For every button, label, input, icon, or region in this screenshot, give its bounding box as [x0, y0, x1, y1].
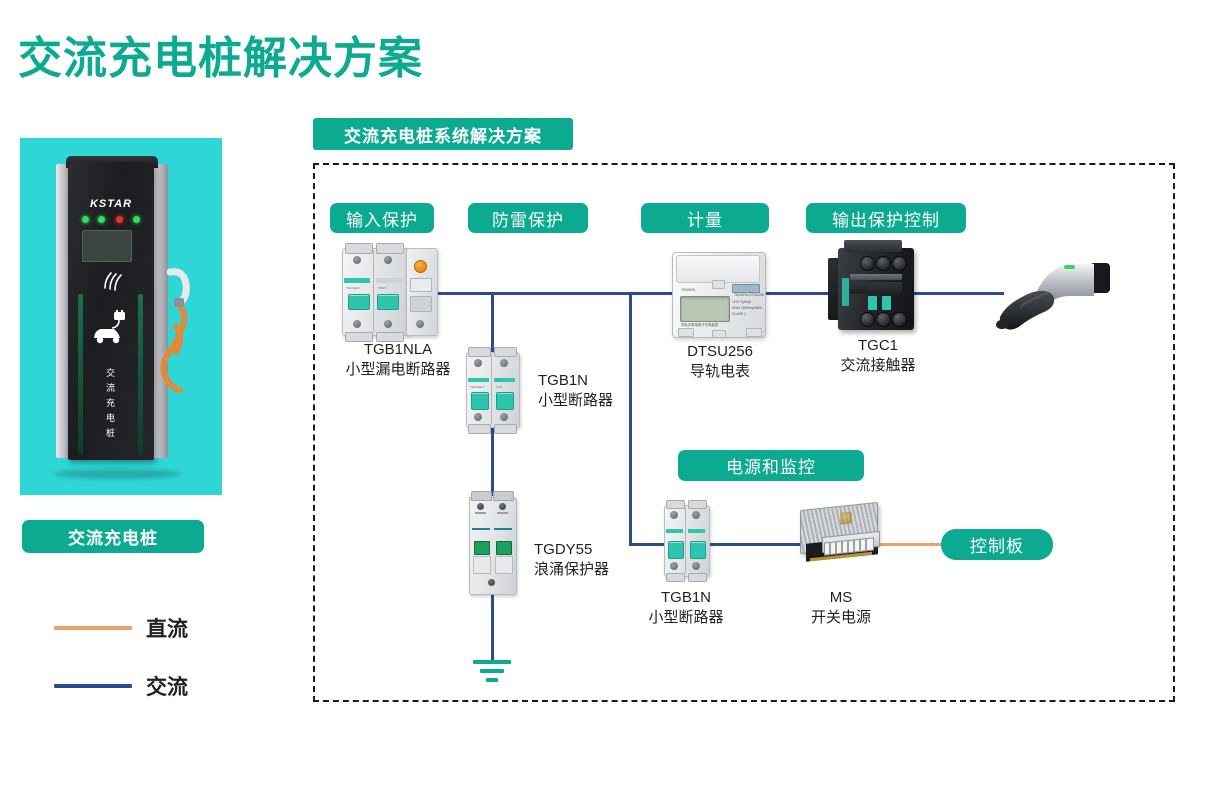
legend-swatch-dc [54, 626, 132, 630]
device-meter-name: 导轨电表 [650, 362, 790, 382]
device-mcb-main-image: TENGEN C16 [466, 352, 518, 426]
device-mcb-main-name: 小型断路器 [538, 391, 678, 411]
ac-mcb-to-psu [706, 543, 810, 546]
ac-mcb-to-spd [491, 424, 494, 496]
pile-led-4 [133, 216, 140, 223]
ac-drop-to-mcb [491, 292, 494, 354]
device-psu-caption: MS 开关电源 [786, 588, 896, 629]
section-label-input-protection: 输入保护 [330, 203, 434, 233]
pile-lcd-screen [82, 230, 132, 262]
device-rccb-caption: TGB1NLA 小型漏电断路器 [318, 340, 478, 381]
device-meter-caption: DTSU256 导轨电表 [650, 342, 790, 383]
device-mcb-aux-caption: TGB1N 小型断路器 [626, 588, 746, 629]
legend: 直流 交流 [18, 600, 258, 700]
legend-swatch-ac [54, 684, 132, 688]
legend-label-dc: 直流 [146, 613, 188, 643]
ground-bar-2 [480, 669, 504, 673]
ground-bar-1 [473, 660, 511, 664]
section-label-metering: 计量 [641, 203, 769, 233]
device-spd-image [469, 497, 515, 593]
pile-led-3 [116, 216, 123, 223]
device-mcb-aux-model: TGB1N [626, 588, 746, 608]
dc-psu-to-control-board [880, 543, 942, 546]
device-meter-model: DTSU256 [650, 342, 790, 362]
pile-brand-logo: KSTAR [68, 198, 154, 210]
device-contactor-image [838, 248, 914, 330]
device-mcb-aux-image [664, 505, 708, 575]
ground-bar-3 [486, 678, 498, 682]
pile-front-panel: KSTAR 交 [68, 162, 154, 460]
pile-cable-and-connector [152, 268, 198, 428]
pile-led-2 [98, 216, 105, 223]
pile-shadow [54, 469, 182, 479]
rfid-icon [96, 270, 126, 292]
device-contactor-model: TGC1 [818, 336, 938, 356]
device-rccb-name: 小型漏电断路器 [318, 360, 478, 380]
device-mcb-aux-name: 小型断路器 [626, 608, 746, 628]
device-contactor-name: 交流接触器 [818, 356, 938, 376]
legend-label-ac: 交流 [146, 671, 188, 701]
device-psu-image [800, 506, 884, 566]
system-banner: 交流充电桩系统解决方案 [313, 118, 573, 150]
device-spd-caption: TGDY55 浪涌保护器 [534, 540, 674, 581]
control-board-pill: 控制板 [941, 529, 1053, 560]
device-spd-model: TGDY55 [534, 540, 674, 560]
pile-led-1 [82, 216, 89, 223]
device-rccb-image: TENGEN TEST [342, 248, 408, 334]
ac-drop-to-aux [629, 292, 632, 545]
device-meter-image: TENGEN DTSU256 TENGEN 220V 5(60)A 50Hz 1… [672, 252, 764, 336]
device-rccb-model: TGB1NLA [318, 340, 478, 360]
ev-charging-icon [88, 310, 134, 344]
charging-pile-caption: 交流充电桩 [22, 520, 204, 553]
ac-spd-to-ground [491, 592, 494, 660]
device-psu-model: MS [786, 588, 896, 608]
device-spd-name: 浪涌保护器 [534, 560, 674, 580]
charging-pile-photo: KSTAR 交 [20, 138, 222, 495]
section-label-power-monitoring: 电源和监控 [678, 450, 864, 481]
device-contactor-caption: TGC1 交流接触器 [818, 336, 938, 377]
ev-connector-image [990, 255, 1110, 333]
page-title: 交流充电桩解决方案 [18, 22, 423, 86]
section-label-surge-protection: 防雷保护 [468, 203, 588, 233]
device-psu-name: 开关电源 [786, 608, 896, 628]
pile-vertical-text: 交流充电桩 [68, 366, 154, 441]
section-label-output-control: 输出保护控制 [806, 203, 966, 233]
